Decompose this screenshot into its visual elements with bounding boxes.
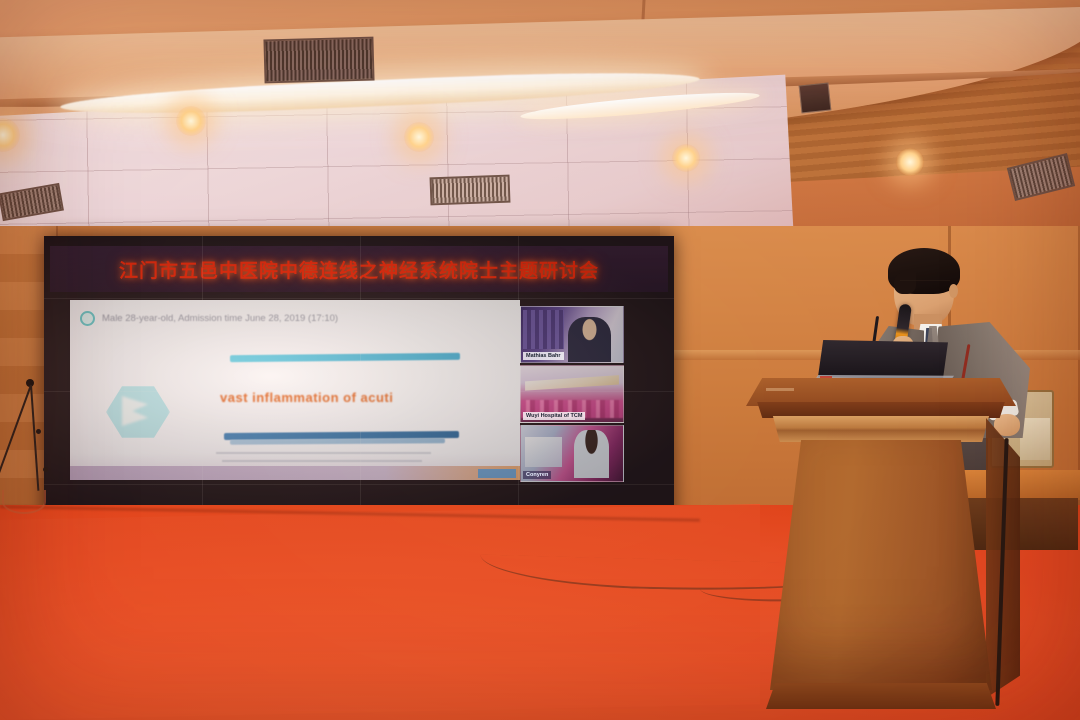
podium-laptop[interactable] xyxy=(818,340,948,380)
glasses-icon xyxy=(900,280,950,289)
led-video-wall[interactable]: 江门市五邑中医院中德连线之神经系统院士主题研讨会 Male 28-year-ol… xyxy=(44,236,674,528)
event-banner-title: 江门市五邑中医院中德连线之神经系统院士主题研讨会 xyxy=(119,256,599,283)
slide-body-line xyxy=(222,460,422,462)
slide-header-text: Male 28-year-old, Admission time June 28… xyxy=(102,313,338,324)
downlight-icon xyxy=(672,144,700,172)
podium-top-face xyxy=(752,402,1010,418)
video-tile-label: Mathias Bahr xyxy=(523,352,564,360)
podium-base xyxy=(766,683,996,709)
led-wall-content: 江门市五邑中医院中德连线之神经系统院士主题研讨会 Male 28-year-ol… xyxy=(44,236,674,528)
downlight-icon xyxy=(896,148,924,176)
led-seam xyxy=(44,484,674,485)
podium-body xyxy=(770,440,992,690)
podium-notch xyxy=(766,388,794,391)
conference-hall-photo: 江门市五邑中医院中德连线之神经系统院士主题研讨会 Male 28-year-ol… xyxy=(0,0,1080,720)
event-banner: 江门市五邑中医院中德连线之神经系统院士主题研讨会 xyxy=(50,246,668,292)
stage-floor-front xyxy=(0,504,760,720)
slide-highlight-text: vast inflammation of acuti xyxy=(220,390,460,405)
tripod-joint xyxy=(36,429,41,434)
led-seam xyxy=(44,298,674,299)
podium-moulding xyxy=(766,416,996,442)
video-tile-label: Conyren xyxy=(523,471,551,479)
podium xyxy=(742,378,1032,720)
ceiling xyxy=(0,0,1080,240)
slide-bar-top xyxy=(230,353,460,362)
video-conference-tiles: Mathias Bahr Wuyi Hospital of TCM Conyre… xyxy=(520,306,624,482)
hospital-hall-tile[interactable]: Wuyi Hospital of TCM xyxy=(520,365,624,422)
remote-speaker-tile[interactable]: Mathias Bahr xyxy=(520,306,624,363)
floor-wire-loop xyxy=(2,490,46,514)
video-tile-label: Wuyi Hospital of TCM xyxy=(523,412,585,420)
hexagon-logo-icon xyxy=(106,384,170,440)
presentation-slide: Male 28-year-old, Admission time June 28… xyxy=(70,300,520,480)
tripod-joint xyxy=(43,467,48,472)
slide-footer-chip xyxy=(478,469,516,478)
air-vent-icon xyxy=(263,37,374,84)
downlight-icon xyxy=(176,106,206,136)
local-room-tile[interactable]: Conyren xyxy=(520,425,624,482)
circle-bullet-icon xyxy=(80,311,95,326)
downlight-icon xyxy=(404,122,434,152)
tripod-leg xyxy=(0,385,32,498)
air-vent-icon xyxy=(430,175,511,206)
slide-bar-bottom-accent xyxy=(230,438,445,445)
podium-top xyxy=(746,378,1016,406)
speaker-ear xyxy=(949,284,958,298)
slide-body-line xyxy=(216,452,431,454)
slide-footer xyxy=(70,466,520,480)
slide-header: Male 28-year-old, Admission time June 28… xyxy=(80,308,514,328)
tripod-leg xyxy=(30,385,39,491)
ceiling-speaker-box xyxy=(799,83,832,114)
